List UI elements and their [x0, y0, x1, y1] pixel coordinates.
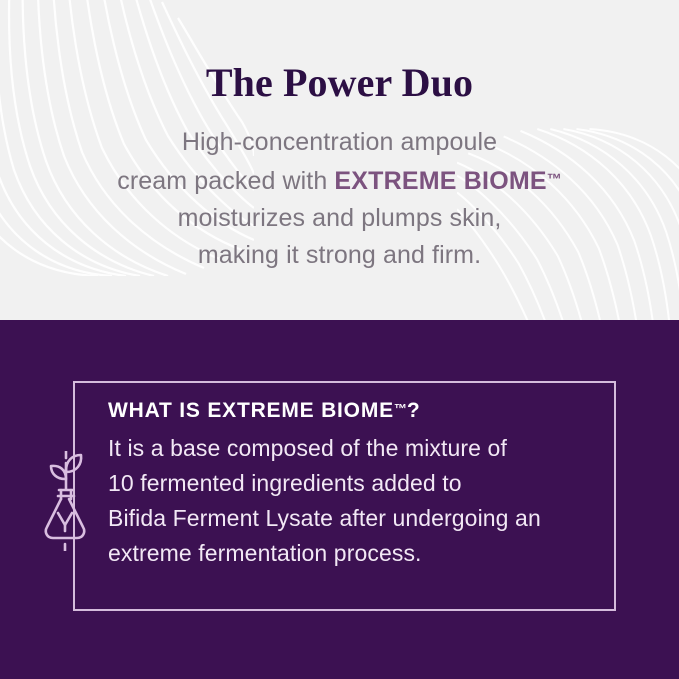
description-line-1: High-concentration ampoule [117, 124, 562, 161]
fact-heading: WHAT IS EXTREME BIOME™? [108, 396, 628, 424]
description-line-2: cream packed with EXTREME BIOME™ [117, 161, 562, 200]
description-line-3: moisturizes and plumps skin, [117, 200, 562, 237]
fact-text-block: WHAT IS EXTREME BIOME™? It is a base com… [108, 396, 628, 571]
flask-with-sprout-icon [41, 451, 89, 551]
brand-name-text: EXTREME BIOME [334, 167, 546, 195]
description-line-4: making it strong and firm. [117, 237, 562, 274]
fact-body-line-3: Bifida Ferment Lysate after undergoing a… [108, 501, 628, 536]
brand-name-extreme-biome: EXTREME BIOME™ [334, 167, 561, 195]
fact-body: It is a base composed of the mixture of … [108, 431, 628, 571]
fact-body-line-1: It is a base composed of the mixture of [108, 431, 628, 466]
product-description: High-concentration ampoule cream packed … [117, 124, 562, 274]
product-infographic-banner: The Power Duo High-concentration ampoule… [0, 0, 679, 679]
description-line-2-prefix: cream packed with [117, 167, 334, 195]
top-panel: The Power Duo High-concentration ampoule… [0, 0, 679, 320]
fact-heading-text: WHAT IS EXTREME BIOME [108, 399, 394, 422]
page-title: The Power Duo [206, 61, 473, 105]
top-content: The Power Duo High-concentration ampoule… [0, 0, 679, 320]
fact-body-line-4: extreme fermentation process. [108, 536, 628, 571]
fact-body-line-2: 10 fermented ingredients added to [108, 466, 628, 501]
fact-heading-suffix: ? [407, 399, 421, 422]
trademark-symbol: ™ [394, 401, 407, 416]
trademark-symbol: ™ [547, 171, 562, 188]
